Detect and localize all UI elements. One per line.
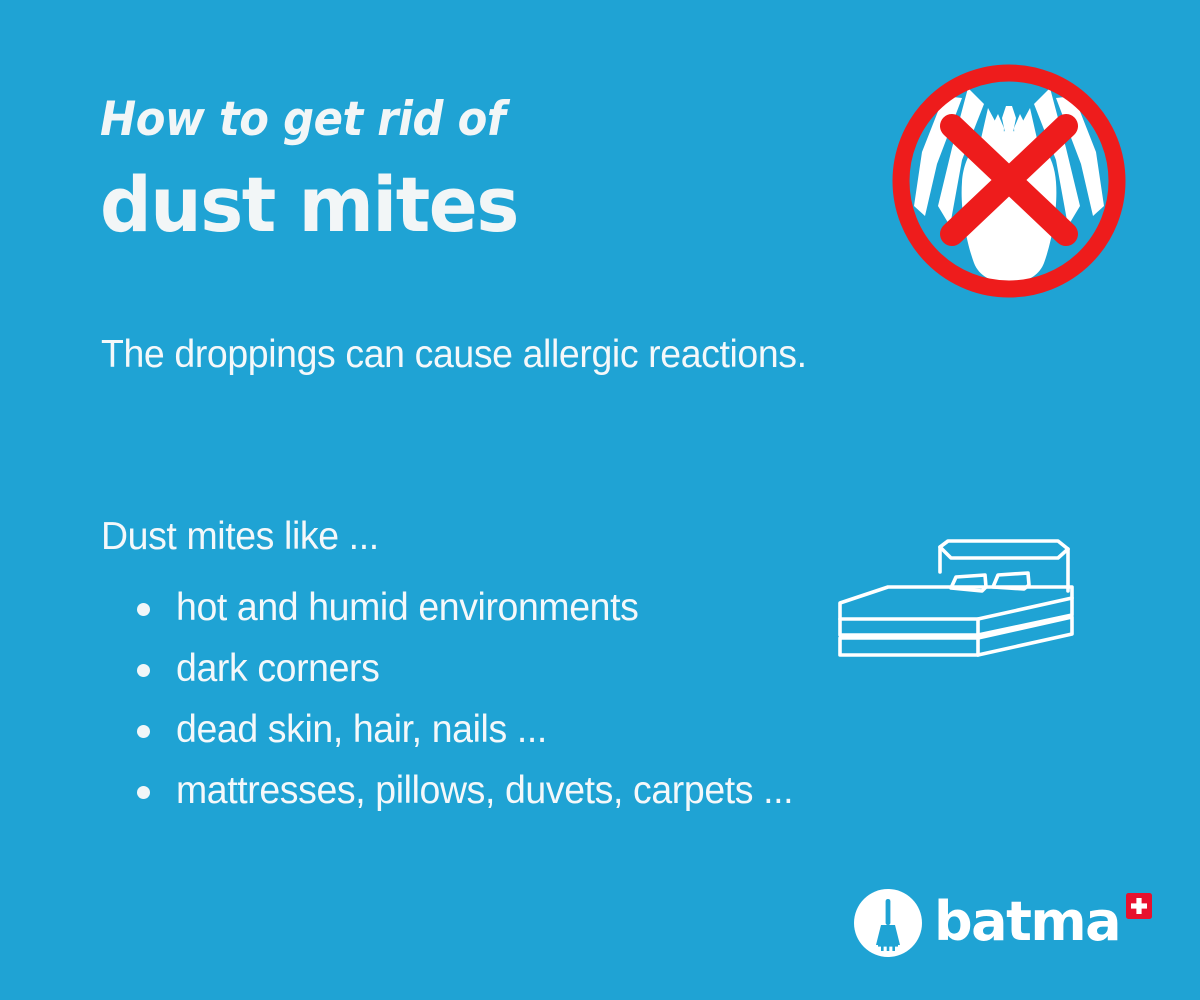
bed-boxspring-front xyxy=(840,638,978,655)
list-item: dead skin, hair, nails ... xyxy=(101,699,801,760)
list-item-label: dark corners xyxy=(176,638,379,699)
list-item: mattresses, pillows, duvets, carpets ... xyxy=(101,760,801,821)
page-title: dust mites xyxy=(100,167,822,243)
kicker-text: How to get rid of xyxy=(100,96,799,143)
subtitle-text: The droppings can cause allergic reactio… xyxy=(101,333,807,377)
list-item-label: dead skin, hair, nails ... xyxy=(176,699,547,760)
logo-wordmark-text: batmaid xyxy=(934,890,1124,953)
bed-icon xyxy=(830,525,1092,670)
bullet-dot-icon xyxy=(137,603,150,616)
bed-mattress-top xyxy=(840,587,1072,619)
bed-mattress-front xyxy=(840,619,978,635)
list-item-label: hot and humid environments xyxy=(176,577,638,638)
batmaid-logo[interactable]: batmaid xyxy=(854,884,1154,966)
bullet-dot-icon xyxy=(137,725,150,738)
list-item: hot and humid environments xyxy=(101,577,801,638)
preferences-list: hot and humid environments dark corners … xyxy=(101,577,801,821)
headline-block: How to get rid of dust mites xyxy=(100,96,860,243)
bullet-dot-icon xyxy=(137,786,150,799)
bed-boxspring-side xyxy=(978,617,1072,655)
infographic-poster: How to get rid of dust mites The droppin… xyxy=(0,0,1200,1000)
bed-headboard xyxy=(940,541,1068,591)
swiss-cross-badge xyxy=(1126,893,1152,919)
broom-in-circle-icon xyxy=(854,889,922,957)
dust-mites-like-block: Dust mites like ... hot and humid enviro… xyxy=(101,517,801,821)
no-dust-mite-icon xyxy=(884,56,1134,306)
list-item: dark corners xyxy=(101,638,801,699)
list-item-label: mattresses, pillows, duvets, carpets ... xyxy=(176,760,793,821)
bullet-dot-icon xyxy=(137,664,150,677)
logo-wordmark: batmaid xyxy=(934,886,1124,958)
list-title: Dust mites like ... xyxy=(101,517,773,556)
